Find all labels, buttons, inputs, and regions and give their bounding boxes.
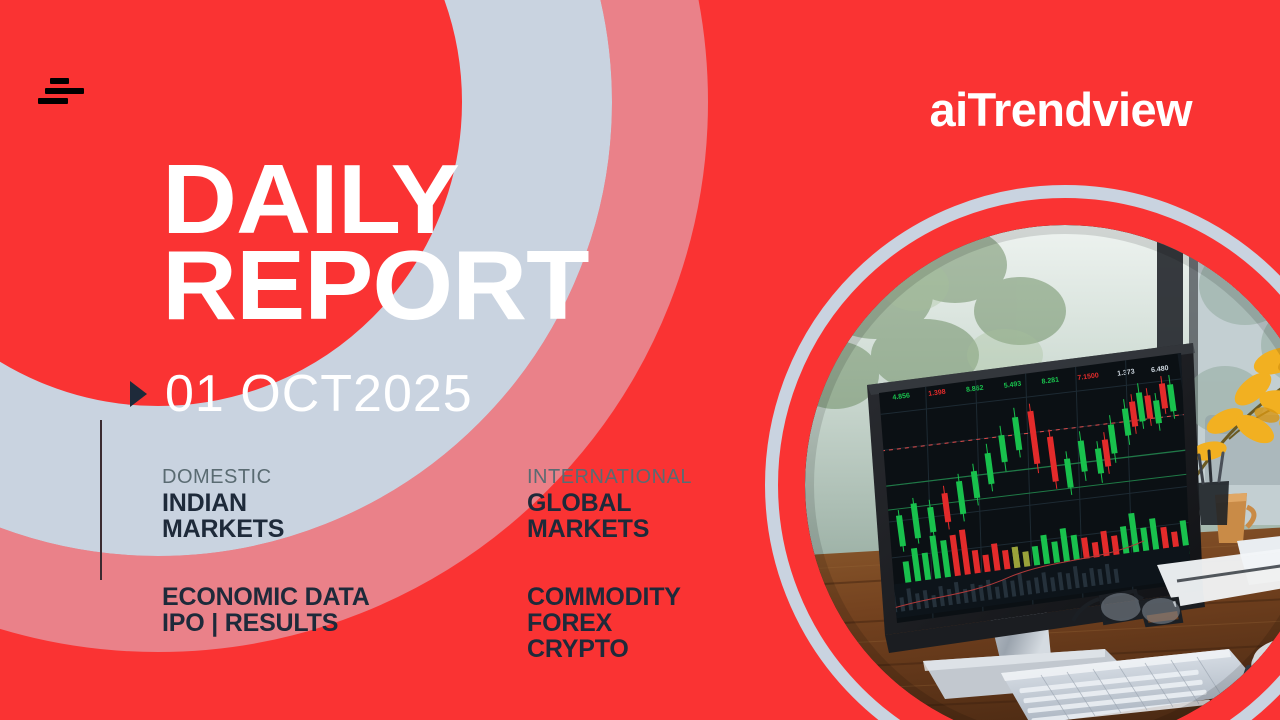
category-kicker: DOMESTIC [162, 466, 427, 488]
poster-canvas: aiTrendview DAILY REPORT 01 OCT2025 DOME… [0, 0, 1280, 720]
page-title: DAILY REPORT [162, 156, 589, 328]
category-column-domestic: DOMESTIC INDIAN MARKETS ECONOMIC DATA IP… [162, 466, 427, 662]
category-item: MARKETS [527, 516, 792, 542]
category-item: COMMODITY [527, 584, 792, 610]
category-item: CRYPTO [527, 636, 792, 662]
category-column-international: INTERNATIONAL GLOBAL MARKETS COMMODITY F… [527, 466, 792, 662]
brand-wordmark: aiTrendview [930, 86, 1192, 133]
aitrendview-bars-logomark[interactable] [38, 78, 84, 110]
report-date: 01 OCT2025 [130, 368, 473, 420]
category-item: FOREX [527, 610, 792, 636]
logomark-bar-middle [45, 88, 84, 94]
category-item: INDIAN [162, 490, 427, 516]
category-list: DOMESTIC INDIAN MARKETS ECONOMIC DATA IP… [162, 466, 792, 662]
page-title-line-2: REPORT [162, 242, 589, 328]
category-item: ECONOMIC DATA [162, 584, 427, 610]
category-primary-group: GLOBAL MARKETS [527, 490, 792, 542]
logomark-bar-top [50, 78, 69, 84]
category-secondary-group: COMMODITY FOREX CRYPTO [527, 584, 792, 662]
category-secondary-group: ECONOMIC DATA IPO | RESULTS [162, 584, 427, 636]
report-date-text: 01 OCT2025 [165, 368, 473, 420]
vertical-divider [100, 420, 102, 580]
category-kicker: INTERNATIONAL [527, 466, 792, 488]
category-item: MARKETS [162, 516, 427, 542]
logomark-bar-bottom [38, 98, 68, 104]
category-primary-group: INDIAN MARKETS [162, 490, 427, 542]
play-triangle-icon [130, 381, 147, 407]
category-item: GLOBAL [527, 490, 792, 516]
category-item: IPO | RESULTS [162, 610, 427, 636]
